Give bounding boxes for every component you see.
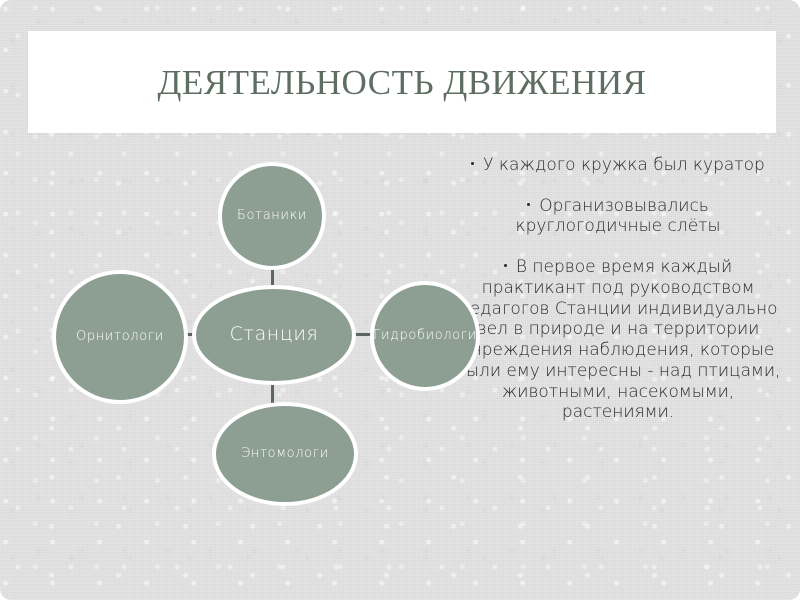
diagram-node-ornitologi[interactable]: Орнитологи [52, 270, 188, 404]
bullet-item: Организовывались круглогодичные слёты [455, 196, 781, 237]
diagram-node-botaniki[interactable]: Ботаники [218, 162, 326, 270]
radial-diagram: Ботаники Орнитологи Станция Гидроби олог… [30, 148, 460, 538]
diagram-node-entomologi[interactable]: Энтомологи [212, 402, 358, 506]
diagram-node-gidrobiologi-line1: Гидроби [373, 329, 435, 344]
bullet-dot-icon [527, 203, 530, 206]
bullet-text: В первое время каждый практикант под рук… [456, 257, 781, 422]
bullet-text: У каждого кружка был куратор [483, 155, 765, 175]
bullet-item: У каждого кружка был куратор [455, 155, 781, 176]
page-title: ДЕЯТЕЛЬНОСТЬ ДВИЖЕНИЯ [158, 65, 647, 100]
diagram-node-stanciya[interactable]: Станция [192, 285, 356, 385]
title-box: ДЕЯТЕЛЬНОСТЬ ДВИЖЕНИЯ [28, 31, 776, 133]
body-text-column: У каждого кружка был куратор Организовыв… [455, 155, 781, 423]
bullet-item: В первое время каждый практикант под рук… [455, 257, 781, 423]
bullet-dot-icon [504, 264, 507, 267]
slide-canvas: ДЕЯТЕЛЬНОСТЬ ДВИЖЕНИЯ Ботаники Орнитолог… [0, 0, 800, 600]
bullet-dot-icon [471, 162, 474, 165]
diagram-node-gidrobiologi[interactable]: Гидроби ологи [370, 281, 480, 391]
diagram-node-gidrobiologi-line2: ологи [435, 329, 477, 344]
bullet-text: Организовывались круглогодичные слёты [515, 196, 720, 237]
